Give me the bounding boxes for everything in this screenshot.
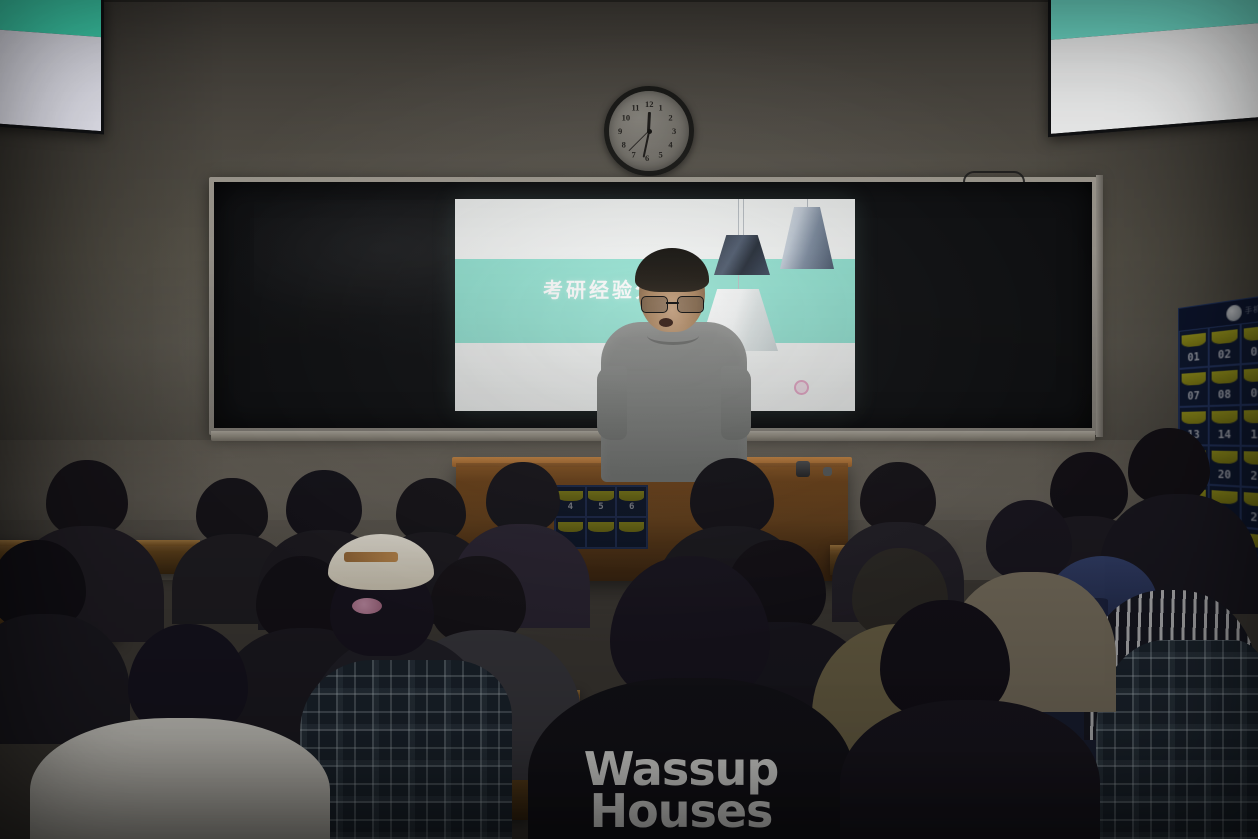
pocket-wall-slot-08[interactable]: 08 (1209, 364, 1241, 406)
pocket-number: 08 (1210, 387, 1240, 402)
pocket-number: 09 (1242, 385, 1258, 401)
pocket-lip (1244, 492, 1258, 507)
pocket-lip (619, 522, 644, 532)
pocket-lip (1244, 451, 1258, 465)
pocket-wall-row: 070809 (1179, 362, 1258, 407)
hoodie-graphic-text: Wassup Houses (556, 748, 806, 833)
pocket-lip (1181, 411, 1206, 424)
cap-strap (344, 552, 398, 562)
pocket-wall-slot-01[interactable]: 01 (1179, 327, 1209, 369)
pocket-lip (1211, 370, 1237, 385)
audience-head (486, 462, 560, 532)
pocket-wall-slot-07[interactable]: 07 (1179, 367, 1209, 407)
clock-numeral-5: 5 (659, 149, 663, 159)
pocket-wall-slot-20[interactable]: 20 (1209, 445, 1241, 486)
pocket-number: 5 (587, 502, 616, 512)
pocket-lip (588, 522, 613, 532)
audience-head (986, 500, 1072, 580)
presenter-sleeve-left (597, 366, 627, 440)
pocket-rows-podium: 456 (555, 486, 647, 548)
pocket-wall-slot-09[interactable]: 09 (1241, 362, 1258, 405)
clock-numeral-4: 4 (668, 140, 672, 150)
clock-numeral-6: 6 (645, 153, 649, 163)
presenter-sleeve-right (721, 366, 751, 440)
pocket-podium-slot-5[interactable]: 5 (586, 486, 617, 517)
pocket-lip (558, 522, 583, 532)
front-right-body (840, 700, 1100, 839)
student-with-plaid-jacket-right (1096, 640, 1258, 839)
pocket-lip (619, 491, 644, 501)
glasses-lens-left (641, 296, 668, 313)
clock-numeral-12: 12 (645, 99, 654, 109)
pocket-number: 21 (1242, 469, 1258, 485)
pocket-wall-slot-21[interactable]: 21 (1241, 446, 1258, 489)
pocket-number: 01 (1180, 349, 1208, 365)
clock-numeral-7: 7 (632, 149, 636, 159)
presenter-student (601, 252, 747, 482)
lamp-cord-blue (807, 199, 808, 207)
pocket-podium-slot[interactable] (586, 517, 617, 548)
hoodie-text-line2: Houses (556, 790, 806, 832)
podium-small-object (823, 467, 832, 476)
podium-object (796, 461, 810, 477)
clock-numeral-2: 2 (668, 113, 672, 123)
pocket-number: 14 (1210, 428, 1240, 442)
pink-hair-clip (352, 598, 382, 614)
pocket-number: 03 (1242, 343, 1258, 360)
pocket-lip (1211, 410, 1237, 423)
slide-accent-dot (794, 380, 809, 395)
foreground-left-white-sweater (30, 718, 330, 839)
pocket-lip (1181, 372, 1206, 386)
pocket-lip (1211, 329, 1237, 345)
blackboard-right-post (1096, 175, 1103, 437)
pocket-lip (558, 491, 583, 501)
projector-cable (963, 171, 1025, 182)
pocket-number: 20 (1210, 467, 1240, 482)
clock-numeral-10: 10 (622, 113, 631, 123)
pocket-wall-slot-14[interactable]: 14 (1209, 405, 1241, 446)
pocket-wall-slot-03[interactable]: 03 (1241, 319, 1258, 364)
student-with-plaid-jacket-left (300, 660, 512, 839)
pocket-podium-slot-6[interactable]: 6 (616, 486, 647, 517)
presenter-hair (635, 248, 709, 292)
wall-clock: 121234567891011 (604, 86, 694, 176)
clock-numeral-1: 1 (659, 103, 663, 113)
pocket-podium-row: 456 (555, 486, 647, 517)
pocket-number: 4 (556, 502, 585, 512)
monitor-left-screen (0, 0, 101, 131)
pocket-lip (1244, 367, 1258, 382)
pocket-number: 15 (1242, 427, 1258, 441)
organizer-badge-icon (1226, 304, 1241, 322)
pocket-number: 02 (1210, 346, 1240, 362)
audience-head (46, 460, 128, 536)
audience-head (690, 458, 774, 536)
monitor-left-body (0, 29, 101, 131)
pocket-lip (1244, 325, 1258, 341)
presenter-mouth (659, 318, 673, 327)
pocket-lip (1181, 333, 1206, 348)
presenter-glasses (641, 296, 704, 311)
pocket-lip (1244, 410, 1258, 424)
organizer-header-label: 手机袋 (1245, 302, 1258, 316)
pocket-lip (588, 491, 613, 501)
pocket-wall-slot-15[interactable]: 15 (1241, 404, 1258, 446)
audience-head (1050, 452, 1128, 524)
pocket-lip (1211, 451, 1237, 465)
audience-head (1128, 428, 1210, 504)
pocket-wall-slot-02[interactable]: 02 (1209, 324, 1241, 367)
classroom-photo-scene: 121234567891011 考研经验分 手 (0, 0, 1258, 839)
pocket-number: 6 (617, 502, 646, 512)
wall-monitor-right (1048, 0, 1258, 137)
wall-monitor-left (0, 0, 104, 134)
clock-center-pin (647, 129, 652, 134)
monitor-right-screen (1051, 0, 1258, 134)
clock-numeral-3: 3 (672, 126, 676, 136)
clock-numeral-8: 8 (622, 140, 626, 150)
lamp-cord-dark (743, 199, 744, 235)
pocket-number: 07 (1180, 389, 1208, 403)
clock-numeral-9: 9 (618, 126, 622, 136)
pocket-podium-slot[interactable] (616, 517, 647, 548)
monitor-right-body (1051, 22, 1258, 134)
clock-numeral-11: 11 (632, 103, 640, 113)
glasses-lens-right (677, 296, 704, 313)
